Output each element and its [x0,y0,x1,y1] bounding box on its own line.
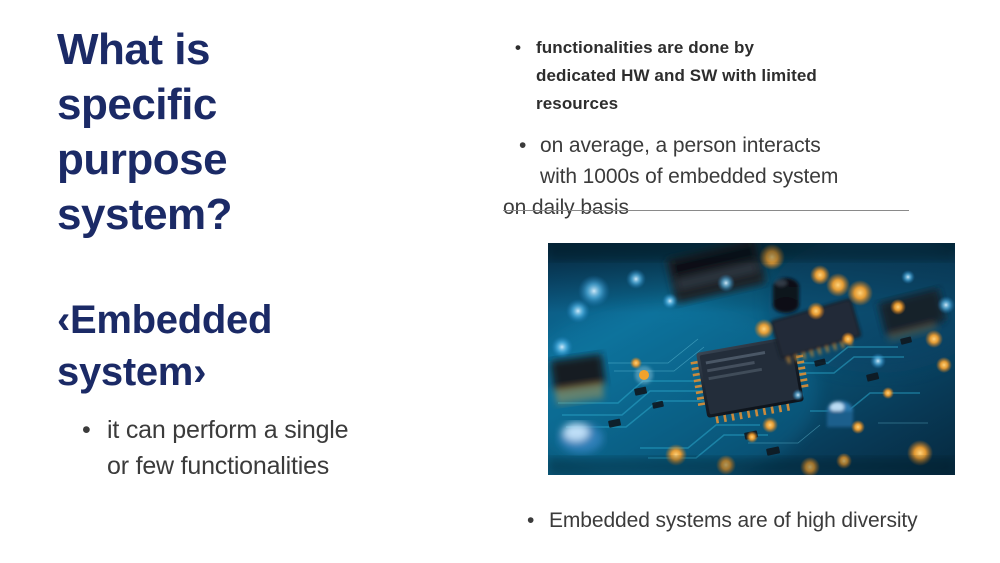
bullet-text: it can perform a single or few functiona… [107,412,438,484]
bullet-dot-icon: • [519,130,526,161]
list-item: • it can perform a single or few functio… [78,412,438,484]
list-item: • functionalities are done by dedicated … [515,34,935,118]
right-regular-bullet-list: • on average, a person interacts with 10… [519,130,939,192]
left-bullet-list: • it can perform a single or few functio… [78,412,438,484]
right-bold-bullet-list: • functionalities are done by dedicated … [515,34,935,118]
page-title: What is specific purpose system? [57,22,457,242]
bullet-text: on average, a person interacts with 1000… [540,130,939,192]
bullet-text: Embedded systems are of high diversity [549,505,987,536]
slide-subtitle: ‹Embedded system› [57,294,457,398]
list-item: • Embedded systems are of high diversity [527,505,987,536]
bullet-dot-icon: • [527,505,534,536]
bottom-bullet-list: • Embedded systems are of high diversity [527,505,987,536]
horizontal-divider [503,210,909,211]
bullet-dot-icon: • [82,412,91,448]
bullet-text-overflow: on daily basis [503,192,629,223]
bullet-dot-icon: • [515,34,521,62]
slide-canvas: What is specific purpose system? ‹Embedd… [0,0,1000,563]
list-item: • on average, a person interacts with 10… [519,130,939,192]
circuit-board-image [548,243,955,475]
bullet-text: functionalities are done by dedicated HW… [536,34,935,118]
